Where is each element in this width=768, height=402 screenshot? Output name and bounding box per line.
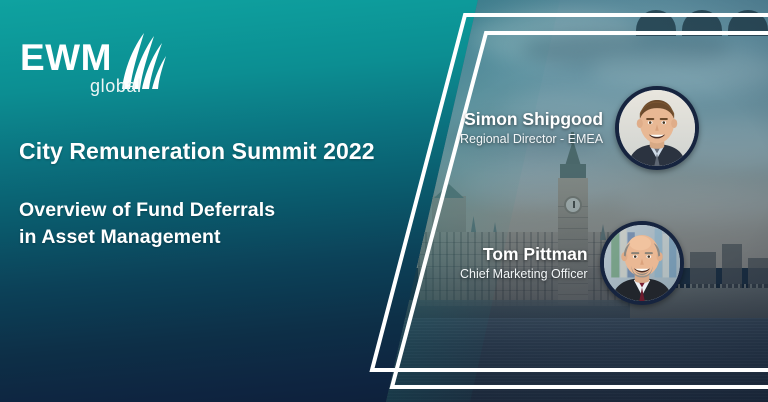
event-subtitle: Overview of Fund Deferrals in Asset Mana… — [19, 197, 275, 252]
event-title: City Remuneration Summit 2022 — [19, 138, 375, 165]
speaker-card-simon-shipgood: Simon Shipgood Regional Director - EMEA — [460, 86, 699, 170]
speaker-text: Tom Pittman Chief Marketing Officer — [460, 244, 600, 283]
logo-wordmark: EWM — [20, 39, 112, 76]
headshot-simon-shipgood — [619, 90, 695, 166]
logo-subword: global — [90, 77, 142, 95]
speaker-role: Regional Director - EMEA — [460, 131, 603, 147]
avatar — [600, 221, 684, 305]
presentation-title-slide: EWM global City Remuneration Summit 2022… — [0, 0, 768, 402]
subtitle-line-1: Overview of Fund Deferrals — [19, 197, 275, 224]
speaker-name: Simon Shipgood — [460, 109, 603, 130]
speaker-text: Simon Shipgood Regional Director - EMEA — [460, 109, 615, 148]
speaker-name: Tom Pittman — [460, 244, 588, 265]
headshot-tom-pittman — [604, 225, 680, 301]
speaker-role: Chief Marketing Officer — [460, 266, 588, 282]
ewm-global-logo: EWM global — [20, 31, 170, 97]
avatar — [615, 86, 699, 170]
subtitle-line-2: in Asset Management — [19, 224, 275, 251]
speaker-card-tom-pittman: Tom Pittman Chief Marketing Officer — [460, 221, 684, 305]
